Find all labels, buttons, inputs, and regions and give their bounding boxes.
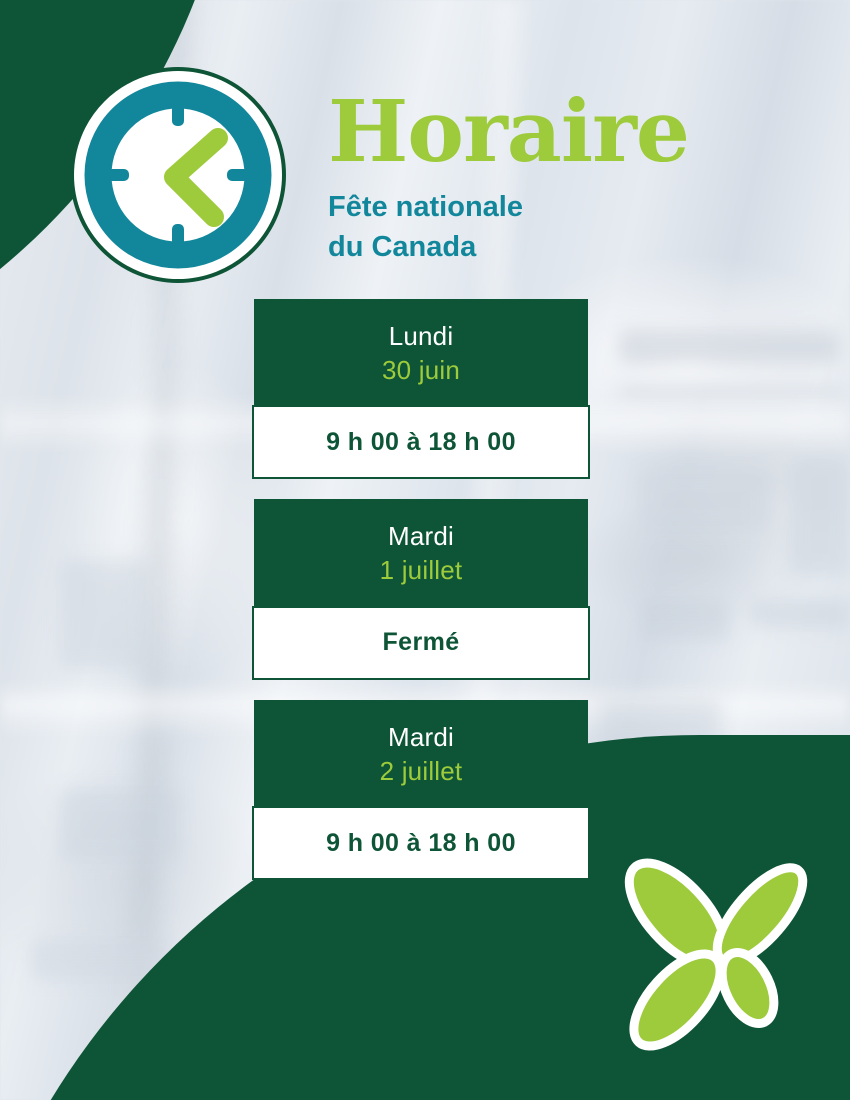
schedule-card-body: Fermé <box>252 606 590 680</box>
schedule-card-day: Mardi <box>264 521 578 552</box>
schedule-card-day: Mardi <box>264 722 578 753</box>
page-subtitle: Fête nationale du Canada <box>328 187 748 267</box>
schedule-card-date: 1 juillet <box>264 554 578 588</box>
schedule-card-header: Lundi 30 juin <box>254 299 588 405</box>
butterfly-logo-icon <box>615 852 830 1067</box>
schedule-card-hours: 9 h 00 à 18 h 00 <box>326 428 516 457</box>
schedule-card: Mardi 2 juillet 9 h 00 à 18 h 00 <box>254 700 594 880</box>
clock-icon <box>68 65 288 285</box>
schedule-card-header: Mardi 1 juillet <box>254 499 588 605</box>
schedule-card-header: Mardi 2 juillet <box>254 700 588 806</box>
schedule-card-body: 9 h 00 à 18 h 00 <box>252 806 590 880</box>
schedule-card-body: 9 h 00 à 18 h 00 <box>252 405 590 479</box>
poster-root: Horaire Fête nationale du Canada Lundi 3… <box>0 0 850 1100</box>
schedule-card: Lundi 30 juin 9 h 00 à 18 h 00 <box>254 299 594 479</box>
schedule-card-day: Lundi <box>264 321 578 352</box>
header-block: Horaire Fête nationale du Canada <box>328 92 748 267</box>
schedule-card-date: 2 juillet <box>264 755 578 789</box>
schedule-card-date: 30 juin <box>264 354 578 388</box>
schedule-list: Lundi 30 juin 9 h 00 à 18 h 00 Mardi 1 j… <box>254 299 594 900</box>
schedule-card-hours: Fermé <box>382 628 459 657</box>
page-title: Horaire <box>328 92 748 173</box>
schedule-card: Mardi 1 juillet Fermé <box>254 499 594 679</box>
schedule-card-hours: 9 h 00 à 18 h 00 <box>326 829 516 858</box>
